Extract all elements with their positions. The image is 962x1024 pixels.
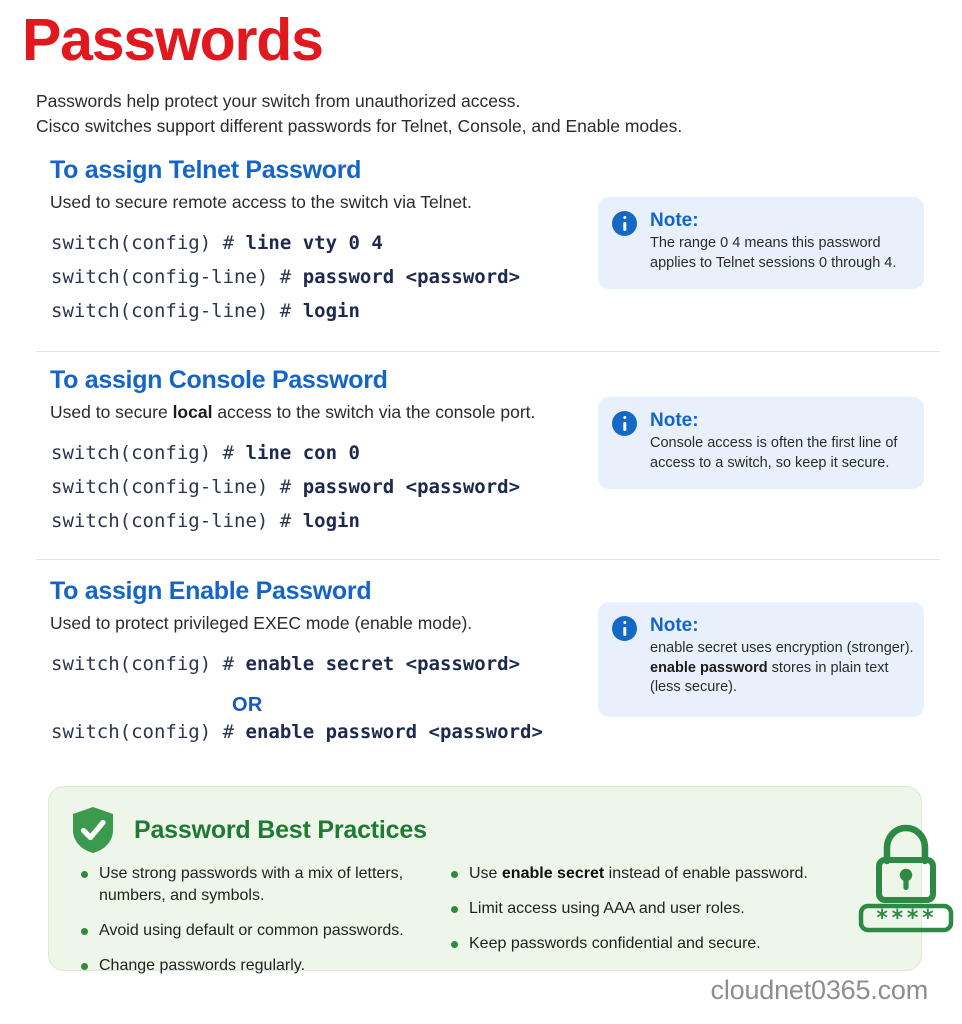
- command-line: switch(config-line) # password <password…: [51, 470, 520, 504]
- note-line-1: The range 0 4 means this password: [650, 234, 896, 254]
- note-line-1: enable secret uses encryption (stronger)…: [650, 639, 914, 659]
- command-block-console: switch(config) # line con 0 switch(confi…: [51, 436, 520, 538]
- cli-command: password <password>: [303, 266, 520, 288]
- note-box-enable: Note: enable secret uses encryption (str…: [598, 602, 924, 717]
- cli-hash: #: [223, 442, 234, 464]
- item-prefix: Limit access using AAA and user roles.: [469, 900, 745, 917]
- cli-hash: #: [223, 721, 234, 743]
- note-text: The range 0 4 means this password applie…: [650, 234, 896, 273]
- command-line: switch(config-line) # password <password…: [51, 260, 520, 294]
- note-text: Console access is often the first line o…: [650, 434, 897, 473]
- cli-prompt: switch(config-line): [51, 266, 268, 288]
- cli-prompt: switch(config-line): [51, 510, 268, 532]
- best-practices-right-list: Use enable secret instead of enable pass…: [447, 863, 817, 955]
- cli-prompt: switch(config): [51, 653, 211, 675]
- desc-suffix: access to the switch via the console por…: [212, 402, 535, 422]
- cli-hash: #: [280, 476, 291, 498]
- section-heading-telnet: To assign Telnet Password: [50, 156, 361, 185]
- section-divider-2: [36, 559, 940, 560]
- note-line-1: Console access is often the first line o…: [650, 434, 897, 454]
- cli-hash: #: [280, 300, 291, 322]
- note-line-2: access to a switch, so keep it secure.: [650, 454, 897, 474]
- note-title: Note:: [650, 410, 897, 432]
- section-description-console: Used to secure local access to the switc…: [50, 402, 535, 423]
- desc-bold: local: [173, 402, 213, 422]
- or-separator-label: OR: [232, 694, 263, 717]
- cli-command: enable secret <password>: [246, 653, 521, 675]
- best-practices-panel: Password Best Practices Use strong passw…: [48, 786, 922, 971]
- shield-check-icon: [71, 806, 115, 854]
- desc-prefix: Used to secure: [50, 402, 173, 422]
- list-item: Change passwords regularly.: [77, 955, 437, 977]
- cli-command: login: [303, 510, 360, 532]
- command-line: switch(config-line) # login: [51, 294, 520, 328]
- command-block-telnet: switch(config) # line vty 0 4 switch(con…: [51, 226, 520, 328]
- cli-command: password <password>: [303, 476, 520, 498]
- info-icon: [612, 411, 637, 436]
- desc-prefix: Used to protect privileged EXEC mode (en…: [50, 613, 472, 633]
- best-practices-header: Password Best Practices: [71, 806, 427, 854]
- best-practices-title: Password Best Practices: [134, 816, 427, 845]
- item-prefix: Keep passwords confidential and secure.: [469, 935, 761, 952]
- item-suffix: instead of enable password.: [604, 865, 808, 882]
- command-block-enable: switch(config) # enable secret <password…: [51, 647, 543, 749]
- cli-hash: #: [280, 510, 291, 532]
- note-title: Note:: [650, 210, 896, 232]
- cli-prompt: switch(config): [51, 442, 211, 464]
- cli-prompt: switch(config-line): [51, 476, 268, 498]
- cli-command: line con 0: [246, 442, 360, 464]
- note-line-2-rest: stores in plain text: [768, 660, 889, 676]
- list-item: Keep passwords confidential and secure.: [447, 933, 817, 955]
- item-prefix: Use: [469, 865, 502, 882]
- cli-prompt: switch(config): [51, 232, 211, 254]
- note-line-3: (less secure).: [650, 678, 914, 698]
- info-icon: [612, 211, 637, 236]
- item-prefix: Avoid using default or common passwords.: [99, 922, 404, 939]
- infographic-page: Passwords Passwords help protect your sw…: [0, 0, 962, 1024]
- cli-prompt: switch(config): [51, 721, 211, 743]
- note-line-2: enable password stores in plain text: [650, 659, 914, 679]
- intro-line-2: Cisco switches support different passwor…: [36, 114, 682, 139]
- intro-line-1: Passwords help protect your switch from …: [36, 89, 682, 114]
- cli-hash: #: [223, 232, 234, 254]
- cli-hash: #: [223, 653, 234, 675]
- list-item: Use enable secret instead of enable pass…: [447, 863, 817, 885]
- best-practices-left-list: Use strong passwords with a mix of lette…: [77, 863, 437, 977]
- list-item: Avoid using default or common passwords.: [77, 920, 437, 942]
- cli-command: line vty 0 4: [246, 232, 383, 254]
- page-title: Passwords: [22, 8, 323, 73]
- note-line-2-bold: enable password: [650, 660, 768, 676]
- item-bold: enable secret: [502, 865, 604, 882]
- padlock-icon: ****: [857, 821, 955, 933]
- section-description-telnet: Used to secure remote access to the swit…: [50, 192, 472, 213]
- cli-prompt: switch(config-line): [51, 300, 268, 322]
- cli-command: login: [303, 300, 360, 322]
- command-line: switch(config) # line con 0: [51, 436, 520, 470]
- note-box-console: Note: Console access is often the first …: [598, 397, 924, 489]
- command-line: switch(config) # enable secret <password…: [51, 647, 543, 681]
- section-heading-enable: To assign Enable Password: [50, 577, 371, 606]
- desc-prefix: Used to secure remote access to the swit…: [50, 192, 472, 212]
- section-heading-console: To assign Console Password: [50, 366, 388, 395]
- note-title: Note:: [650, 615, 914, 637]
- list-item: Use strong passwords with a mix of lette…: [77, 863, 437, 907]
- item-prefix: Use strong passwords with a mix of lette…: [99, 865, 403, 904]
- note-line-2: applies to Telnet sessions 0 through 4.: [650, 254, 896, 274]
- info-icon: [612, 616, 637, 641]
- note-box-telnet: Note: The range 0 4 means this password …: [598, 197, 924, 289]
- watermark-footer: cloudnet0365.com: [711, 975, 928, 1006]
- section-divider-1: [36, 351, 940, 352]
- item-prefix: Change passwords regularly.: [99, 957, 305, 974]
- cli-hash: #: [280, 266, 291, 288]
- section-description-enable: Used to protect privileged EXEC mode (en…: [50, 613, 472, 634]
- command-line: switch(config) # enable password <passwo…: [51, 715, 543, 749]
- command-line: switch(config-line) # login: [51, 504, 520, 538]
- password-mask: ****: [876, 906, 937, 931]
- note-text: enable secret uses encryption (stronger)…: [650, 639, 914, 698]
- cli-command: enable password <password>: [246, 721, 543, 743]
- list-item: Limit access using AAA and user roles.: [447, 898, 817, 920]
- intro-paragraph: Passwords help protect your switch from …: [36, 89, 682, 139]
- command-line: switch(config) # line vty 0 4: [51, 226, 520, 260]
